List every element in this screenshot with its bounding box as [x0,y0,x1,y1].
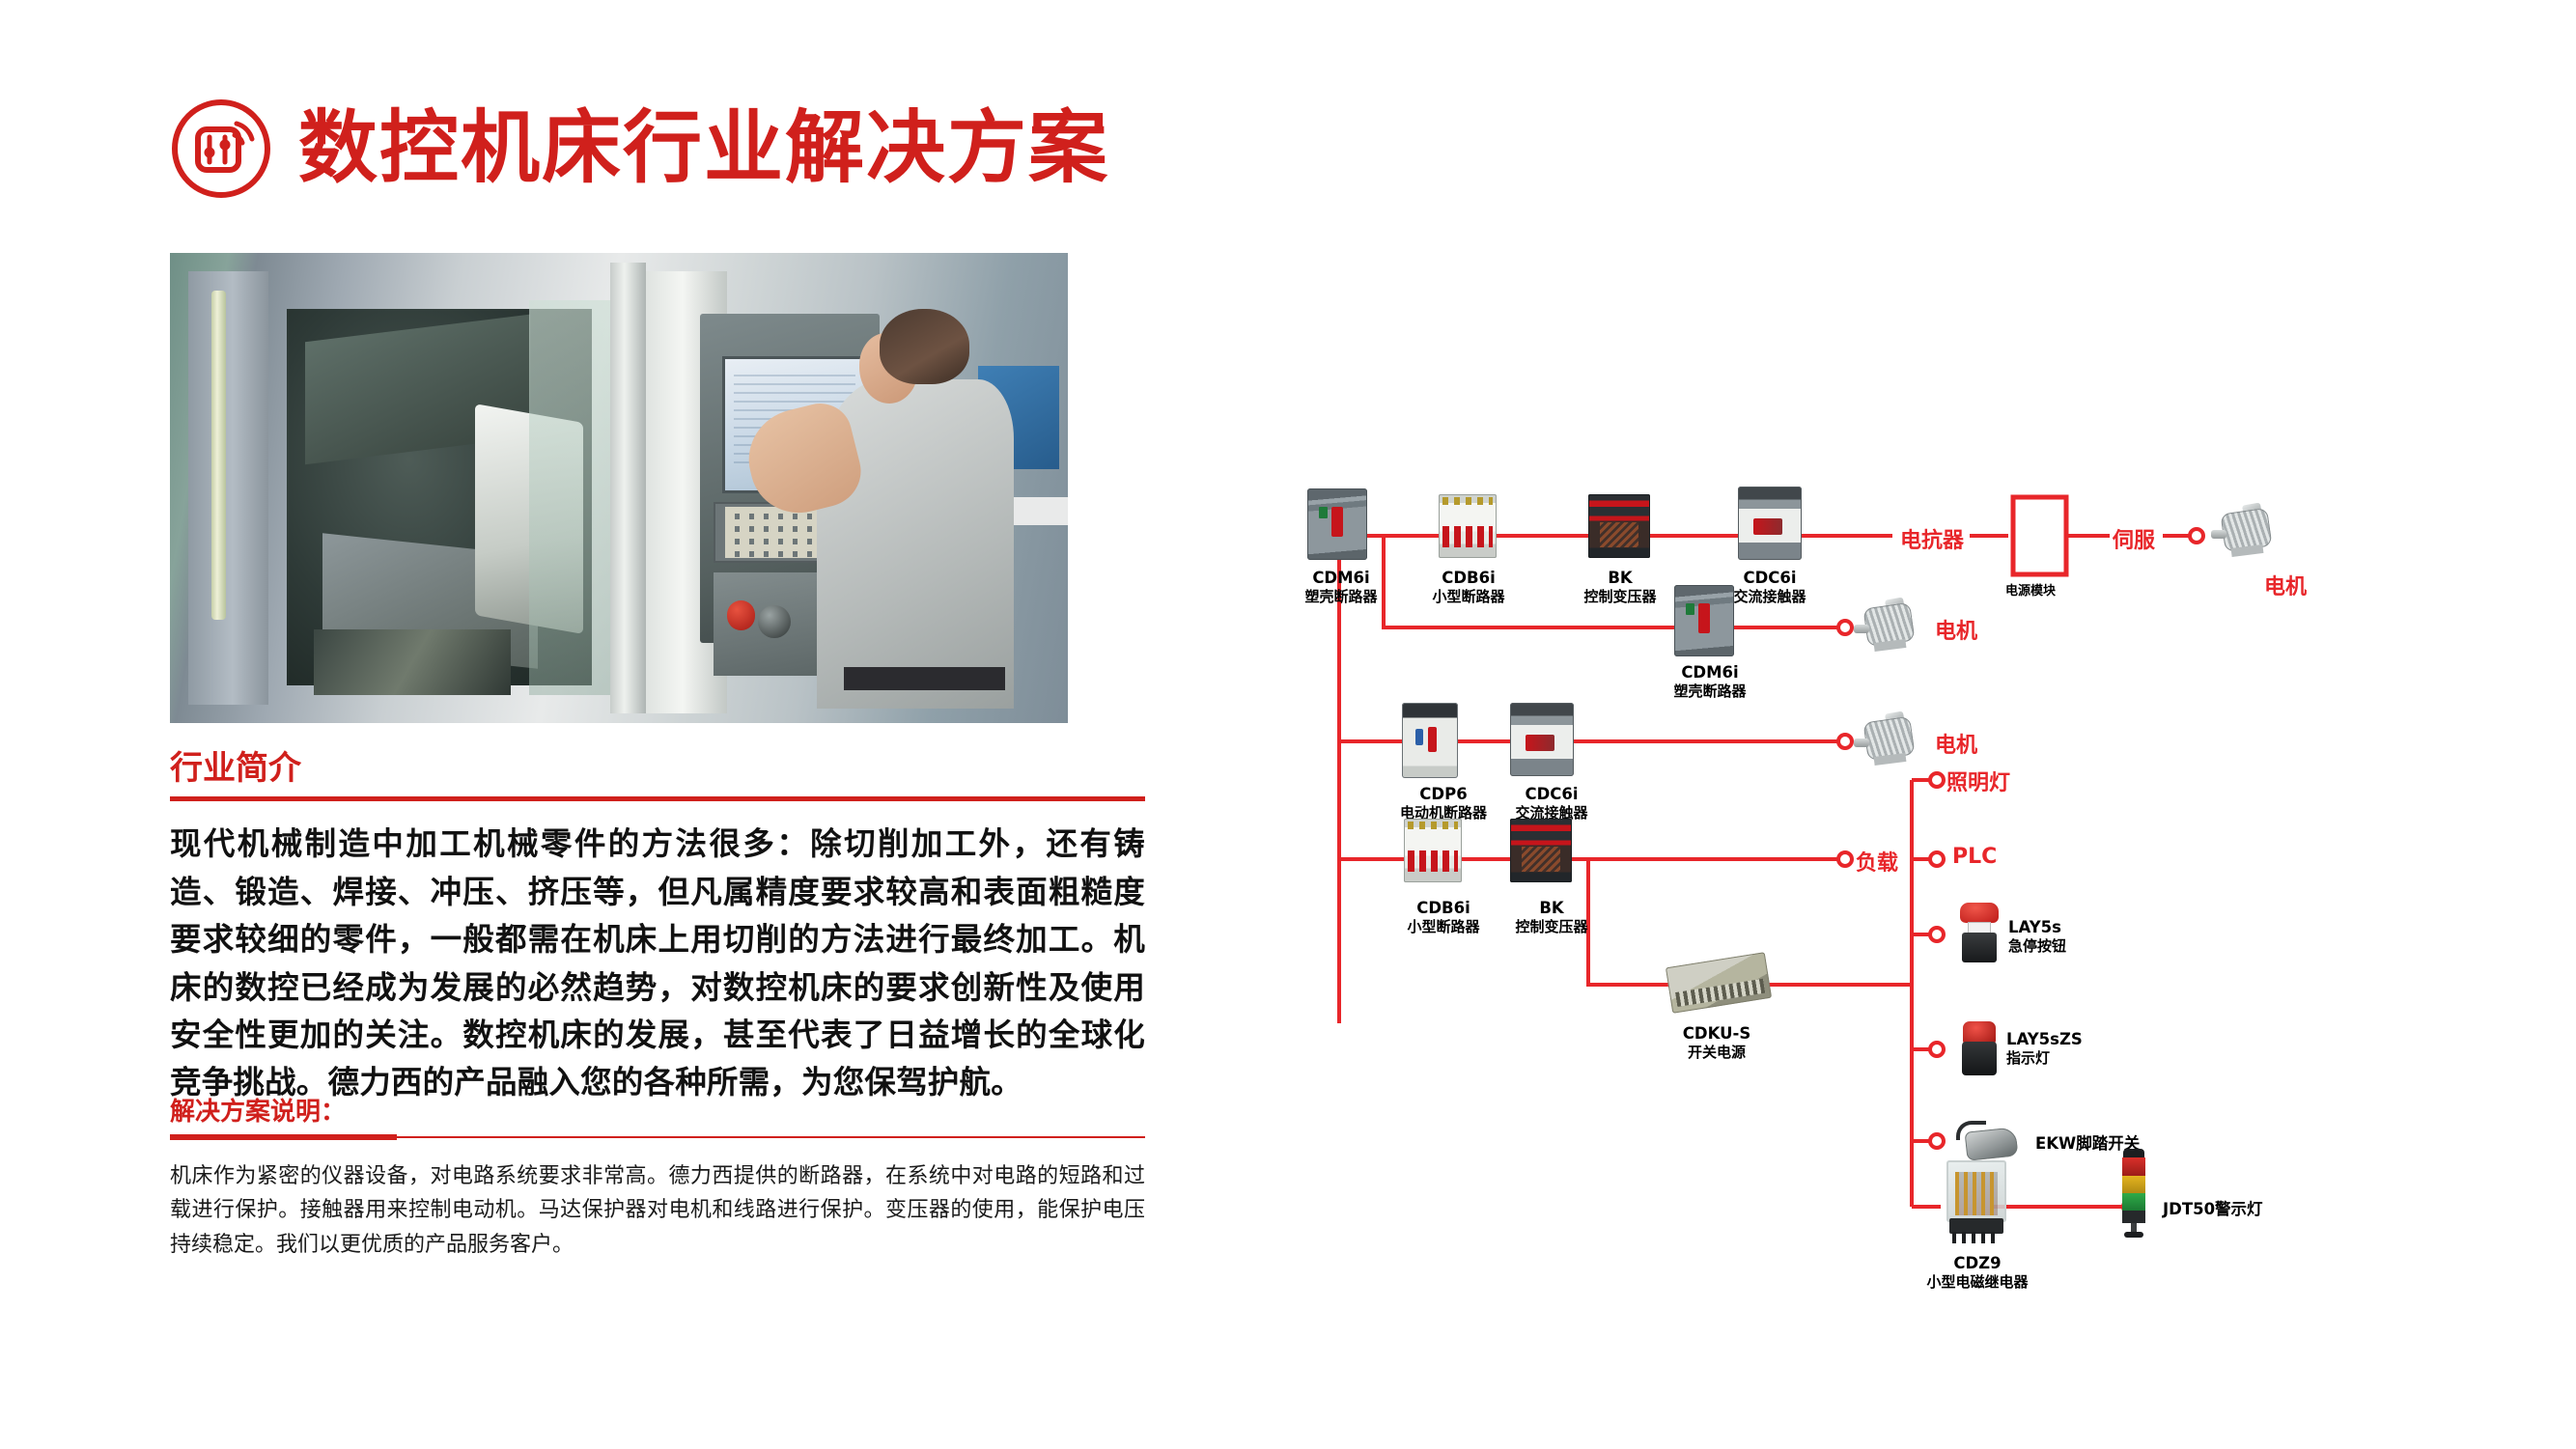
label-lay5s: LAY5s 急停按钮 [2008,917,2124,956]
device-caption-cdb6i-2: CDB6i 小型断路器 [1390,898,1497,936]
label-jdt50: JDT50警示灯 [2163,1199,2317,1219]
molded-case-circuit-breaker-icon-2 [1674,585,1734,656]
device-caption-cdm6i-2: CDM6i 塑壳断路器 [1657,662,1763,701]
solution-divider [170,1136,1145,1138]
miniature-circuit-breaker-icon-2 [1404,819,1462,882]
device-caption-cdp6: CDP6 电动机断路器 [1390,784,1497,822]
solution-description-section: 解决方案说明： 机床作为紧密的仪器设备，对电路系统要求非常高。德力西提供的断路器… [170,1099,1145,1262]
control-transformer-icon-2 [1510,819,1572,882]
signal-tower-light-icon [2119,1149,2148,1238]
industry-intro-heading: 行业简介 [170,751,1145,787]
solution-heading: 解决方案说明： [170,1099,1145,1127]
foot-switch-icon [1956,1120,2022,1164]
motor-icon-1 [2211,504,2282,558]
miniature-circuit-breaker-icon [1439,494,1497,558]
intro-divider [170,796,1145,801]
device-caption-cdz9: CDZ9 小型电磁继电器 [1919,1253,2035,1292]
industry-intro-section: 行业简介 现代机械制造中加工机械零件的方法很多：除切削加工外，还有铸造、锻造、焊… [170,751,1145,1107]
motor-icon-2 [1854,599,1925,653]
device-caption-cdku-s: CDKU-S 开关电源 [1659,1023,1775,1062]
device-caption-cdb6i-1: CDB6i 小型断路器 [1415,568,1522,606]
cnc-machine-photo [170,253,1068,723]
label-lay5szs: LAY5sZS 指示灯 [2006,1029,2132,1068]
switching-power-supply-icon [1668,960,1769,1006]
label-motor-3: 电机 [1935,728,1977,759]
electromagnetic-relay-icon [1943,1160,2010,1243]
ac-contactor-icon [1738,487,1802,560]
industry-intro-body: 现代机械制造中加工机械零件的方法很多：除切削加工外，还有铸造、锻造、焊接、冲压、… [170,821,1145,1106]
motor-protection-circuit-breaker-icon [1402,703,1458,778]
label-servo: 伺服 [2113,523,2155,554]
label-reactor: 电抗器 [1900,523,1964,554]
label-plc: PLC [1952,845,1997,869]
solution-body: 机床作为紧密的仪器设备，对电路系统要求非常高。德力西提供的断路器，在系统中对电路… [170,1159,1145,1263]
emergency-stop-button-icon [1958,903,2001,962]
label-power-module: 电源模块 [2005,580,2056,599]
cnc-electrical-topology-diagram: CDM6i 塑壳断路器 CDB6i 小型断路器 BK 控制变压器 CDC6i 交… [1294,444,2559,1245]
pilot-lamp-icon [1960,1021,1999,1075]
molded-case-circuit-breaker-icon [1307,488,1367,560]
control-panel-signal-icon [169,97,273,201]
device-caption-bk-1: BK 控制变压器 [1567,568,1673,606]
motor-icon-3 [1854,712,1925,766]
control-transformer-icon [1588,494,1650,558]
page-header: 数控机床行业解决方案 [169,97,1109,201]
device-caption-bk-2: BK 控制变压器 [1498,898,1605,936]
diagram-wiring [1294,444,2559,1245]
solution-page: 数控机床行业解决方案 行业简介 现代机械制造中加工机械零件的方法很多：除切 [0,0,2576,1449]
label-motor-1: 电机 [2264,570,2307,600]
label-lamp: 照明灯 [1946,766,2010,796]
page-title: 数控机床行业解决方案 [298,109,1109,188]
label-ekw: EKW脚踏开关 [2035,1133,2180,1154]
device-caption-cdc6i-2: CDC6i 交流接触器 [1498,784,1605,822]
label-motor-2: 电机 [1935,614,1977,645]
label-load: 负载 [1856,846,1898,877]
power-module-box [2013,497,2066,574]
ac-contactor-icon-2 [1510,703,1574,776]
device-caption-cdm6i-1: CDM6i 塑壳断路器 [1288,568,1394,606]
